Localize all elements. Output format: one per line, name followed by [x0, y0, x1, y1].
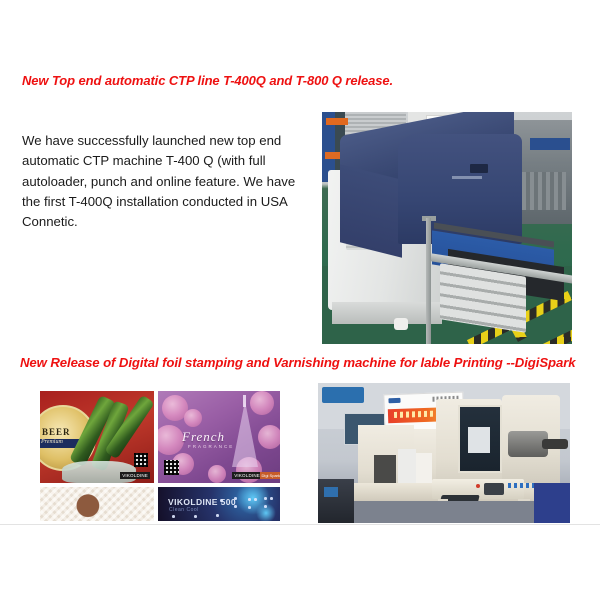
booth-display-screen: [322, 387, 364, 403]
french-label-title: French: [182, 429, 225, 445]
foil-dot: [234, 497, 237, 500]
ctp-support-post: [426, 218, 431, 344]
exhibition-floor: [318, 501, 570, 523]
machine-brand-logo: [508, 483, 534, 488]
ctp-cover-highlight: [452, 176, 482, 179]
sign-logo-icon: [388, 398, 400, 403]
machine-window-plate: [468, 427, 490, 453]
foil-dot: [264, 497, 267, 500]
french-label-subtitle: FRAGRANCE: [188, 444, 234, 449]
paragraph-ctp-description: We have successfully launched new top en…: [22, 131, 307, 232]
article-page: New Top end automatic CTP line T-400Q an…: [0, 0, 600, 600]
watermark-tag: Digi Spark: [260, 472, 280, 479]
ctp-cover-slot: [470, 164, 488, 173]
foil-dot: [234, 505, 237, 508]
console-hmi-touchscreen: [484, 483, 504, 495]
beer-label-subtitle: Premium: [41, 439, 63, 445]
watermark-label: VIKOLDINE: [232, 472, 262, 479]
photo-ctp-machine: [322, 112, 572, 344]
sample-holographic-foil: [40, 487, 154, 521]
vikoldine-label-subtitle: Clean Cool: [169, 507, 199, 513]
photo-digispark-machine: [318, 383, 570, 523]
foreground-operator-station: [318, 479, 354, 523]
emergency-stop-button: [476, 484, 480, 488]
headline-ctp-line: New Top end automatic CTP line T-400Q an…: [22, 73, 393, 88]
foil-dot: [264, 505, 267, 508]
foil-dot: [194, 515, 197, 518]
sample-beer-label: BEER Premium VIKOLDINE: [40, 391, 154, 483]
machine-unit-light: [416, 453, 432, 487]
qr-code-icon: [134, 453, 148, 467]
sample-vikoldine-label: VIKOLDINE 500 Clean Cool: [158, 487, 280, 521]
flower-motif-3: [158, 425, 184, 455]
headline-digispark-release: New Release of Digital foil stamping and…: [20, 355, 575, 370]
foil-dot: [270, 497, 273, 500]
eiffel-tower-icon: [232, 401, 258, 467]
ctp-navy-cover-side: [340, 164, 402, 257]
foil-dot: [254, 498, 257, 501]
foil-dot: [248, 506, 251, 509]
foil-dot: [172, 515, 175, 518]
machine-rewind-shaft: [542, 439, 568, 449]
vikoldine-label-title: VIKOLDINE 500: [168, 497, 236, 507]
background-machinery-blue-part: [530, 138, 570, 150]
photo-label-samples: BEER Premium VIKOLDINE French FRAGRANCE: [38, 383, 282, 523]
machine-unit-dark: [374, 455, 396, 485]
qr-code-icon: [164, 460, 179, 475]
operator-station-screen: [324, 487, 338, 497]
foil-dot: [248, 498, 251, 501]
watermark-label: VIKOLDINE: [120, 472, 150, 479]
warehouse-rack-beam-upper: [326, 118, 348, 125]
background-machinery-grille: [518, 172, 566, 210]
sample-french-fragrance-label: French FRAGRANCE VIKOLDINE Digi Spark: [158, 391, 280, 483]
foil-dot: [220, 499, 223, 502]
flower-motif-6: [258, 425, 280, 449]
flower-motif-2: [184, 409, 202, 427]
flower-motif-8: [208, 465, 226, 483]
foil-dot: [216, 514, 219, 517]
eiffel-tower-spire-icon: [243, 395, 246, 407]
exhibition-blue-carpet: [534, 483, 570, 523]
content-divider: [0, 524, 600, 525]
ctp-caster-wheel: [394, 318, 408, 330]
beer-label-title: BEER: [42, 427, 71, 437]
